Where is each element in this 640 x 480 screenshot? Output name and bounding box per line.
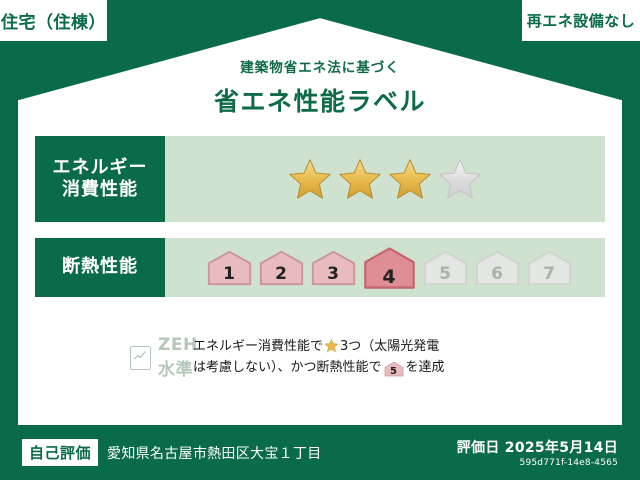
footer-left-group: 自己評価 愛知県名古屋市熱田区大宝１丁目 <box>22 439 322 466</box>
energy-performance-label-box: エネルギー 消費性能 <box>35 136 165 222</box>
insulation-level-value: 4 <box>382 266 395 288</box>
insulation-level-scale: 1234567 <box>165 238 605 297</box>
evaluation-id: 595d771f-14e8-4565 <box>457 458 618 468</box>
zeh-badge: ZEH水準 <box>35 335 185 380</box>
self-evaluation-badge: 自己評価 <box>22 439 98 466</box>
insulation-level-1: 1 <box>206 249 253 287</box>
zeh-desc-part2: 3つ（太陽光発電 <box>340 339 439 354</box>
energy-performance-label: 住宅（住棟） 再エネ設備なし 建築物省エネ法に基づく 省エネ性能ラベル エネルギ… <box>0 0 640 480</box>
star-empty-icon <box>438 157 482 201</box>
title-subtitle: 建築物省エネ法に基づく <box>0 56 640 76</box>
footer-right-group: 評価日 2025年5月14日 595d771f-14e8-4565 <box>457 437 618 468</box>
insulation-level-value: 7 <box>543 264 555 284</box>
insulation-label: 断熱性能 <box>62 256 138 279</box>
insulation-level-3: 3 <box>310 249 357 287</box>
insulation-level-value: 2 <box>275 264 287 284</box>
star-filled-icon <box>388 157 432 201</box>
zeh-description: エネルギー消費性能で3つ（太陽光発電は考慮しない）、かつ断熱性能で5を達成 <box>193 337 445 377</box>
label-footer: 自己評価 愛知県名古屋市熱田区大宝１丁目 評価日 2025年5月14日 595d… <box>0 425 640 480</box>
insulation-level-value: 5 <box>439 264 451 284</box>
star-rating <box>165 136 605 222</box>
energy-label-line2: 消費性能 <box>62 179 138 202</box>
insulation-performance-row: 断熱性能 1234567 <box>35 238 605 297</box>
insulation-level-6: 6 <box>474 249 521 287</box>
insulation-level-2: 2 <box>258 249 305 287</box>
insulation-level-value: 3 <box>327 264 339 284</box>
insulation-level-value: 1 <box>223 264 235 284</box>
zeh-desc-part3: は考慮しない）、かつ断熱性能で <box>193 360 382 375</box>
star-filled-icon <box>288 157 332 201</box>
label-title: 建築物省エネ法に基づく 省エネ性能ラベル <box>0 56 640 118</box>
insulation-level-4: 4 <box>362 245 417 291</box>
insulation-level-value: 6 <box>491 264 503 284</box>
inline-house-value: 5 <box>390 366 397 377</box>
energy-performance-row: エネルギー 消費性能 <box>35 136 605 222</box>
star-filled-icon <box>338 157 382 201</box>
building-type-tag: 住宅（住棟） <box>0 0 107 41</box>
title-main: 省エネ性能ラベル <box>0 82 640 118</box>
evaluation-date: 評価日 2025年5月14日 <box>457 437 618 457</box>
zeh-desc-part1: エネルギー消費性能で <box>193 339 323 354</box>
insulation-level-5: 5 <box>422 249 469 287</box>
renewable-energy-tag: 再エネ設備なし <box>522 0 640 41</box>
zeh-label: ZEH水準 <box>158 335 198 380</box>
energy-label-line1: エネルギー <box>53 157 148 180</box>
insulation-performance-label-box: 断熱性能 <box>35 238 165 297</box>
property-address: 愛知県名古屋市熱田区大宝１丁目 <box>107 443 322 463</box>
zeh-desc-part4: を達成 <box>406 360 445 375</box>
zeh-note-row: ZEH水準 エネルギー消費性能で3つ（太陽光発電は考慮しない）、かつ断熱性能で5… <box>35 335 605 380</box>
inline-insulation-house-icon: 5 <box>384 361 404 377</box>
zeh-check-icon <box>130 346 151 370</box>
inline-star-icon <box>324 338 339 353</box>
insulation-level-7: 7 <box>526 249 573 287</box>
